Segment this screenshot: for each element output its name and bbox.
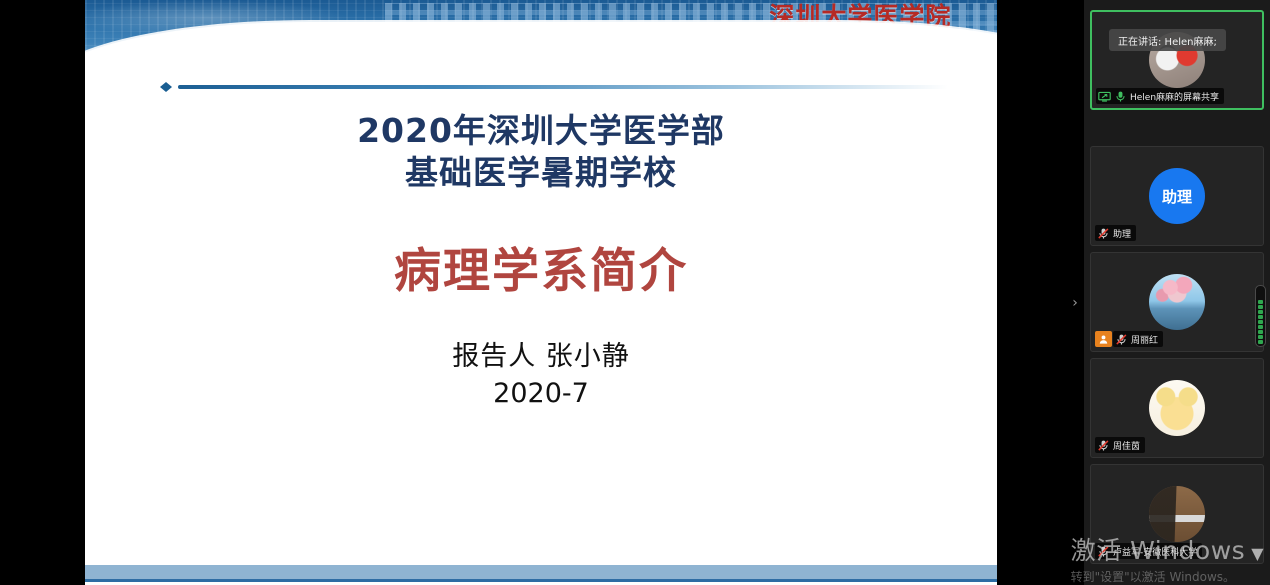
slide-accent-rule: [160, 80, 950, 94]
participant-name: Helen麻麻的屏幕共享: [1130, 90, 1219, 103]
shared-screen-slide: 深圳大学医学院 Shenzhen University School of me…: [85, 0, 997, 585]
avatar: [1149, 274, 1205, 330]
participant-namebar: 助理: [1095, 225, 1136, 241]
participant-name: 助理: [1113, 227, 1131, 240]
avatar: [1149, 486, 1205, 542]
slide-subtitle: 病理学系简介: [85, 232, 997, 301]
collapse-panel-chevron-icon[interactable]: ›: [1068, 295, 1082, 311]
participant-namebar: 周佳茵: [1095, 437, 1145, 453]
slide-title-line-1: 2020年深圳大学医学部: [85, 110, 997, 152]
participant-tile-zhoujiayin[interactable]: 周佳茵: [1090, 358, 1264, 458]
avatar-initials: 助理: [1149, 168, 1205, 224]
participant-namebar: Helen麻麻的屏幕共享: [1096, 88, 1224, 104]
mic-muted-icon: [1097, 545, 1110, 558]
participant-strip[interactable]: Helen麻麻的屏幕共享 助理 助理: [1084, 0, 1270, 585]
host-person-icon: [1095, 331, 1112, 347]
avatar: [1149, 380, 1205, 436]
avatar: 助理: [1149, 168, 1205, 224]
participant-tile-helen[interactable]: Helen麻麻的屏幕共享: [1090, 10, 1264, 110]
slide-footer-bar: [85, 565, 997, 579]
banner-white-swoosh: [85, 22, 997, 88]
slide-title-line-2: 基础医学暑期学校: [85, 152, 997, 194]
host-person-glyph: [1098, 334, 1109, 345]
mic-on-icon: [1114, 90, 1127, 103]
participant-namebar: 卢益军-安徽医科大学: [1095, 543, 1202, 559]
mic-muted-icon: [1115, 333, 1128, 346]
accent-line: [178, 85, 948, 89]
slide-date: 2020-7: [85, 376, 997, 412]
participant-name: 周佳茵: [1113, 439, 1140, 452]
participant-name: 卢益军-安徽医科大学: [1113, 545, 1197, 558]
participant-namebar: 周丽红: [1113, 331, 1163, 347]
participant-tile-zhoulihong[interactable]: 周丽红: [1090, 252, 1264, 352]
participant-tile-assistant[interactable]: 助理 助理: [1090, 146, 1264, 246]
slide-title: 2020年深圳大学医学部 基础医学暑期学校: [85, 110, 997, 194]
speaking-tooltip: 正在讲话: Helen麻麻;: [1109, 29, 1226, 51]
slide-banner: 深圳大学医学院 Shenzhen University School of me…: [85, 0, 997, 88]
participant-name: 周丽红: [1131, 333, 1158, 346]
mic-muted-icon: [1097, 439, 1110, 452]
audio-level-meter: [1255, 285, 1266, 347]
screen-root: 深圳大学医学院 Shenzhen University School of me…: [0, 0, 1270, 585]
mic-muted-icon: [1097, 227, 1110, 240]
diamond-bullet-icon: [160, 82, 172, 92]
participant-tile-luyijun[interactable]: 卢益军-安徽医科大学: [1090, 464, 1264, 564]
slide-presenter: 报告人 张小静: [85, 339, 997, 375]
screen-share-icon: [1098, 90, 1111, 103]
